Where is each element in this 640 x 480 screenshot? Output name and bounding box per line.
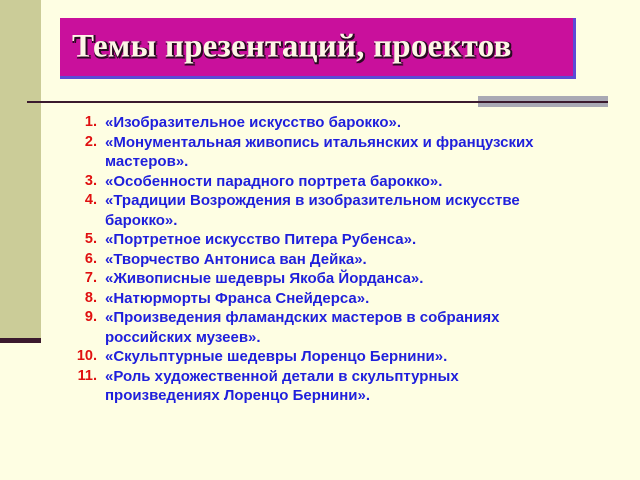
topic-list: 1.«Изобразительное искусство барокко».2.… <box>62 113 622 406</box>
list-item-number: 8. <box>62 289 100 309</box>
list-item-number: 7. <box>62 269 100 289</box>
list-item-number: 2. <box>62 133 100 153</box>
list-item-number: 6. <box>62 250 100 270</box>
left-decorative-band <box>0 0 41 338</box>
list-item-number: 11. <box>62 367 100 387</box>
list-item-number: 1. <box>62 113 100 133</box>
list-item-number: 10. <box>62 347 100 367</box>
slide-title: Темы презентаций, проектов <box>72 29 512 66</box>
list-item: 2.«Монументальная живопись итальянских и… <box>62 133 622 172</box>
slide-title-bar: Темы презентаций, проектов <box>60 18 576 79</box>
list-item: 8.«Натюрморты Франса Снейдерса». <box>62 289 622 309</box>
list-item-text: «Портретное искусство Питера Рубенса». <box>100 230 560 250</box>
list-item-number: 4. <box>62 191 100 211</box>
list-item-text: «Натюрморты Франса Снейдерса». <box>100 289 560 309</box>
list-item-text: «Монументальная живопись итальянских и ф… <box>100 133 560 172</box>
list-item: 7.«Живописные шедевры Якоба Йорданса». <box>62 269 622 289</box>
list-item-text: «Произведения фламандских мастеров в соб… <box>100 308 560 347</box>
list-item: 6.«Творчество Антониса ван Дейка». <box>62 250 622 270</box>
divider-rule <box>27 101 608 103</box>
list-item: 1.«Изобразительное искусство барокко». <box>62 113 622 133</box>
list-item-number: 3. <box>62 172 100 192</box>
list-item-text: «Скульптурные шедевры Лоренцо Бернини». <box>100 347 560 367</box>
list-item-number: 9. <box>62 308 100 328</box>
list-item: 3.«Особенности парадного портрета барокк… <box>62 172 622 192</box>
list-item: 9.«Произведения фламандских мастеров в с… <box>62 308 622 347</box>
list-item-text: «Изобразительное искусство барокко». <box>100 113 560 133</box>
list-item-number: 5. <box>62 230 100 250</box>
list-item: 11.«Роль художественной детали в скульпт… <box>62 367 622 406</box>
presentation-slide: Темы презентаций, проектов 1.«Изобразите… <box>0 0 640 480</box>
list-item-text: «Роль художественной детали в скульптурн… <box>100 367 560 406</box>
list-item-text: «Живописные шедевры Якоба Йорданса». <box>100 269 560 289</box>
list-item: 10.«Скульптурные шедевры Лоренцо Бернини… <box>62 347 622 367</box>
list-item: 5.«Портретное искусство Питера Рубенса». <box>62 230 622 250</box>
list-item-text: «Традиции Возрождения в изобразительном … <box>100 191 560 230</box>
list-item-text: «Творчество Антониса ван Дейка». <box>100 250 560 270</box>
list-item: 4.«Традиции Возрождения в изобразительно… <box>62 191 622 230</box>
list-item-text: «Особенности парадного портрета барокко»… <box>100 172 560 192</box>
left-band-foot-accent <box>0 338 41 343</box>
